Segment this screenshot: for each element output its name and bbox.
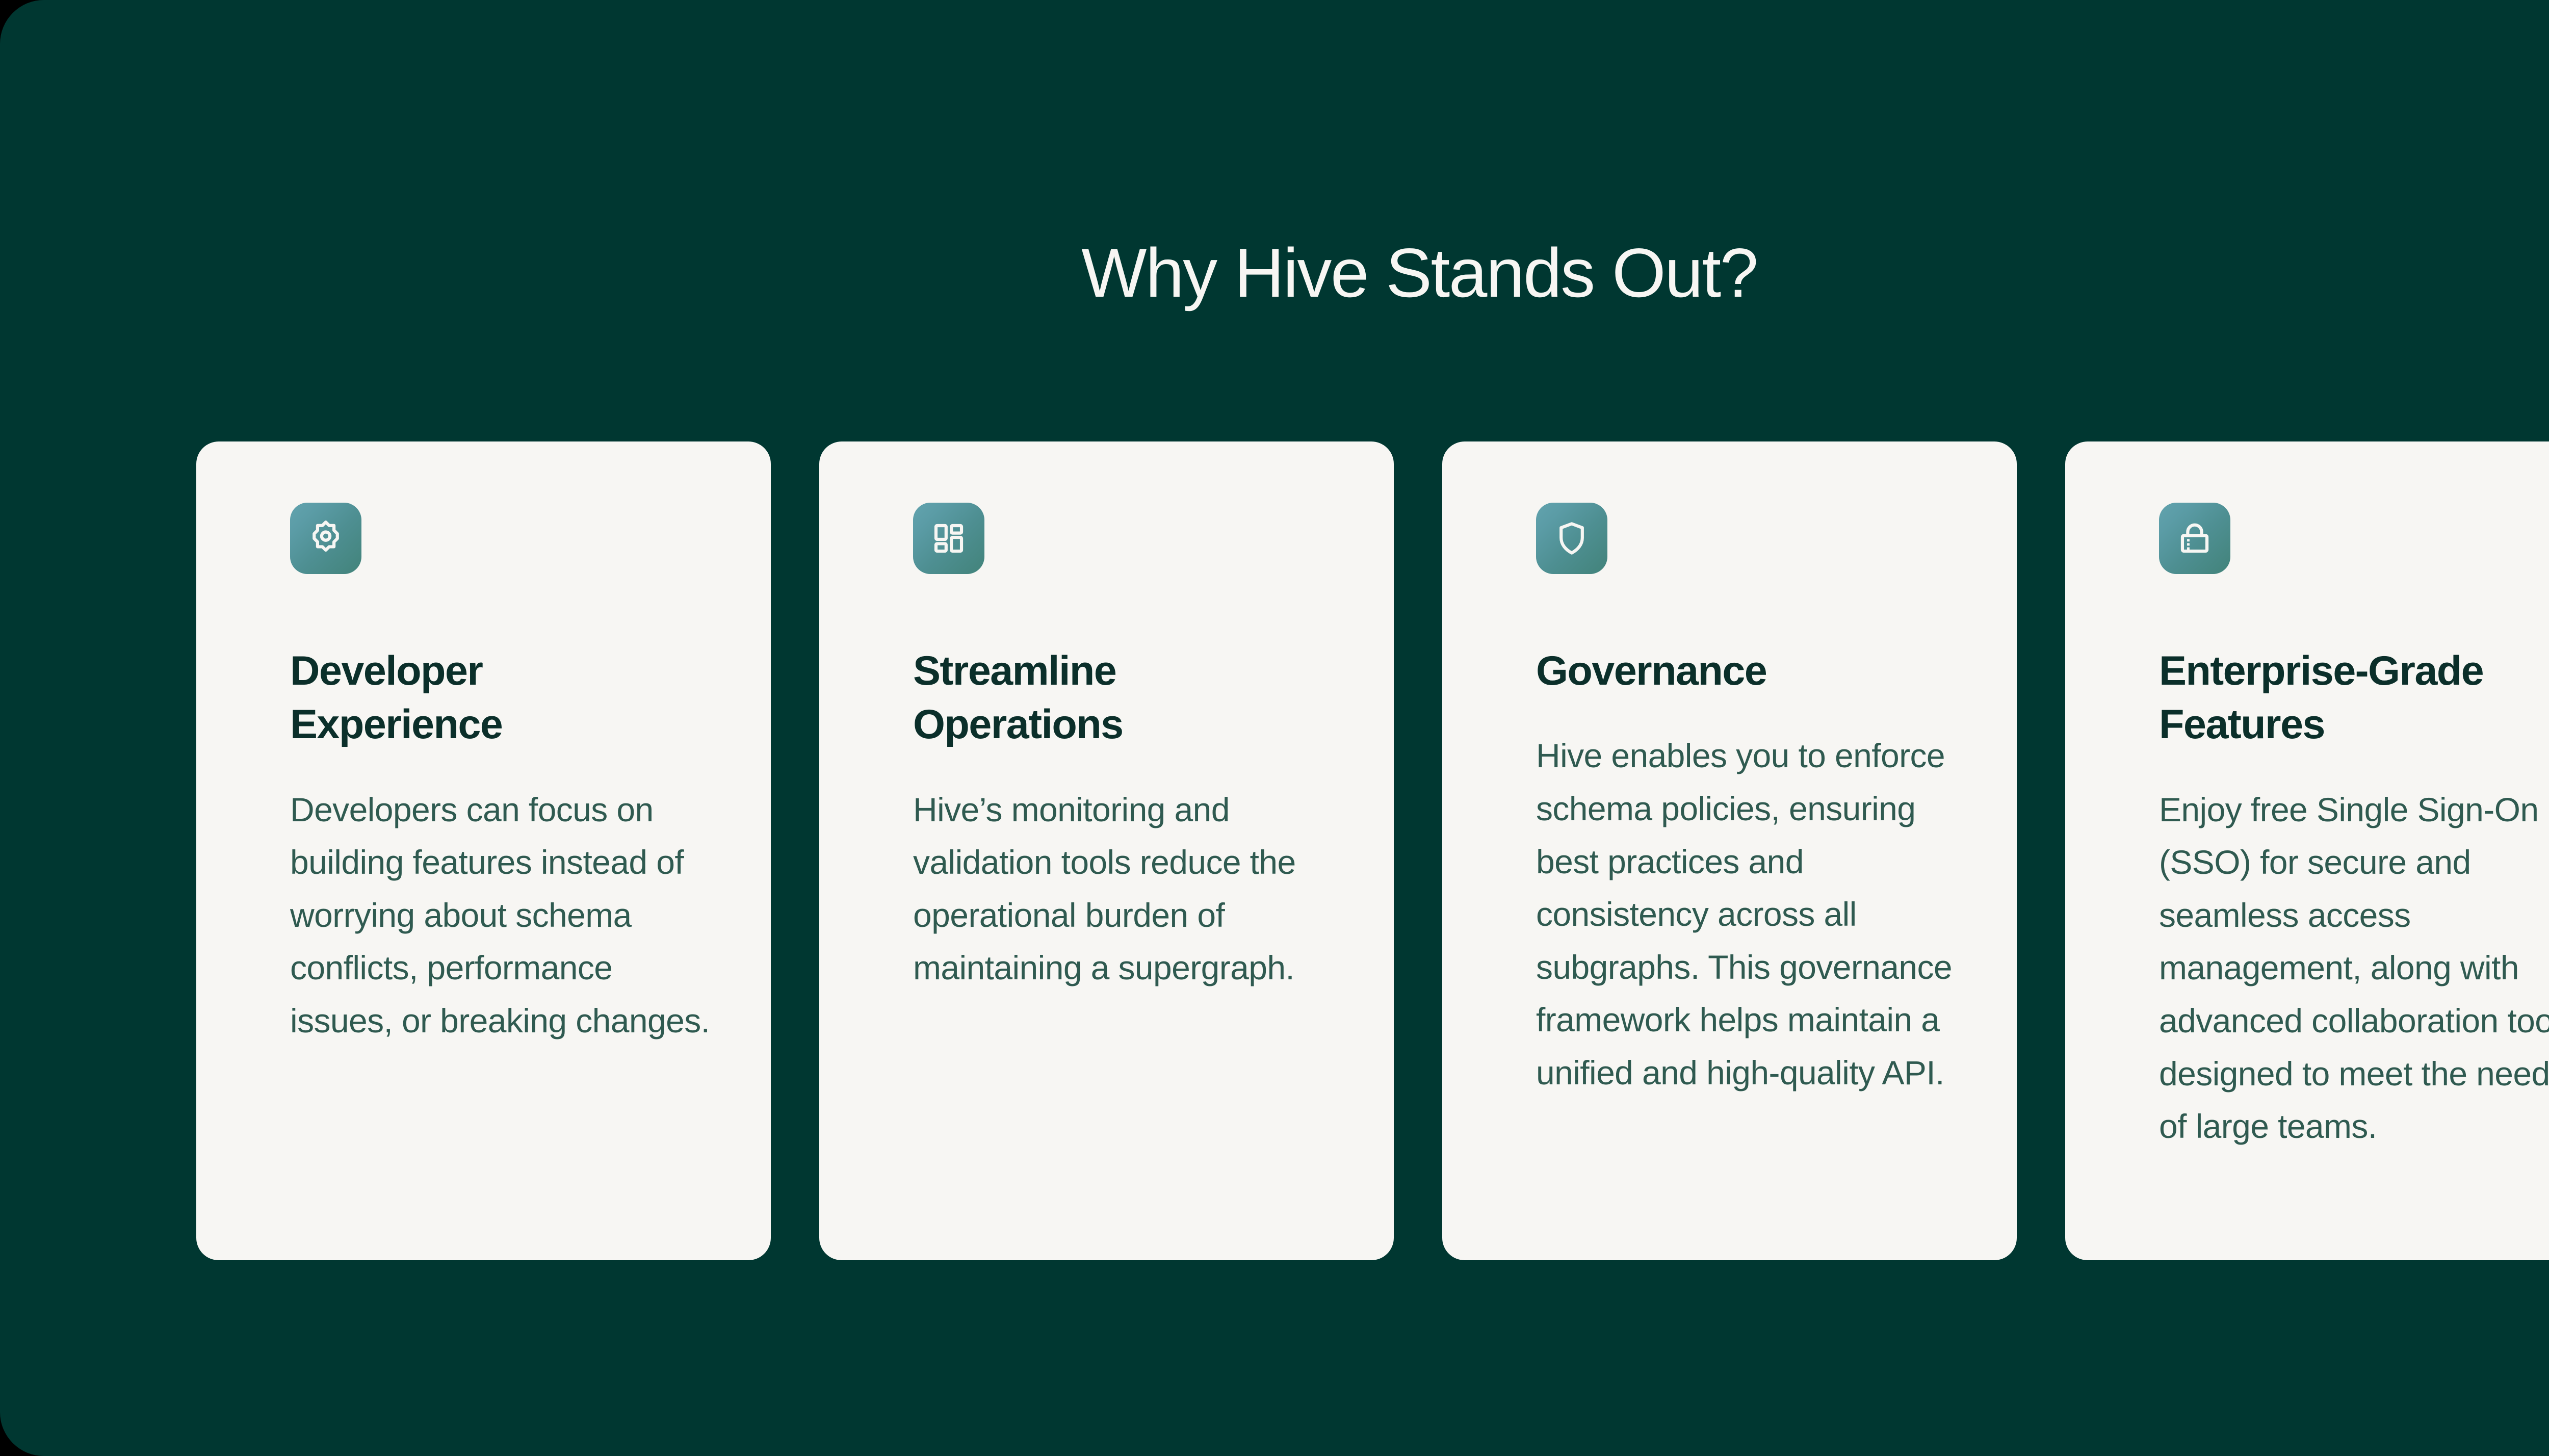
feature-card-body: Enjoy free Single Sign-On (SSO) for secu… bbox=[2159, 784, 2549, 1153]
feature-card-icon-chip bbox=[1536, 503, 1607, 574]
page-root: Why Hive Stands Out? Developer Experienc… bbox=[0, 0, 2549, 1456]
feature-card-content: Streamline Operations Hive’s monitoring … bbox=[819, 503, 1394, 995]
feature-card-content: Governance Hive enables you to enforce s… bbox=[1442, 503, 2017, 1100]
feature-card[interactable]: Streamline Operations Hive’s monitoring … bbox=[819, 441, 1394, 1260]
feature-card[interactable]: Developer Experience Developers can focu… bbox=[196, 441, 771, 1260]
feature-card-icon-chip bbox=[2159, 503, 2230, 574]
feature-card-body: Developers can focus on building feature… bbox=[290, 784, 711, 1048]
feature-card-grid: Developer Experience Developers can focu… bbox=[196, 441, 2549, 1260]
feature-card[interactable]: Governance Hive enables you to enforce s… bbox=[1442, 441, 2017, 1260]
feature-card-content: Developer Experience Developers can focu… bbox=[196, 503, 771, 1048]
feature-card-icon-chip bbox=[913, 503, 984, 574]
feature-card[interactable]: Enterprise-Grade Features Enjoy free Sin… bbox=[2065, 441, 2549, 1260]
lock-icon bbox=[2175, 518, 2215, 558]
feature-card-title: Developer Experience bbox=[290, 644, 698, 752]
feature-card-content: Enterprise-Grade Features Enjoy free Sin… bbox=[2065, 503, 2549, 1153]
page-title: Why Hive Stands Out? bbox=[0, 235, 2549, 311]
feature-card-body: Hive’s monitoring and validation tools r… bbox=[913, 784, 1334, 995]
feature-card-body: Hive enables you to enforce schema polic… bbox=[1536, 730, 1957, 1099]
shield-icon bbox=[1552, 518, 1592, 558]
gear-icon bbox=[306, 518, 346, 558]
dashboard-grid-icon bbox=[929, 518, 969, 558]
feature-card-title: Streamline Operations bbox=[913, 644, 1321, 752]
feature-card-title: Governance bbox=[1536, 644, 1944, 698]
feature-card-icon-chip bbox=[290, 503, 361, 574]
feature-card-title: Enterprise-Grade Features bbox=[2159, 644, 2549, 752]
